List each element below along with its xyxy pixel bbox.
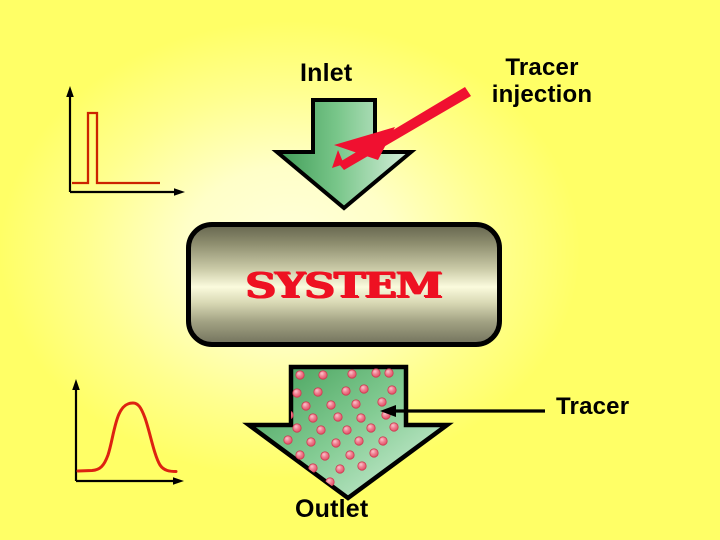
system-box: SYSTEM xyxy=(186,222,502,347)
outlet-chart-y-axis-arrowhead xyxy=(72,379,80,390)
slide-canvas: SYSTEM Inlet Outlet Tracer Tracer inject… xyxy=(0,0,720,540)
inlet-label: Inlet xyxy=(300,59,352,87)
inlet-pulse-curve xyxy=(72,113,160,183)
system-box-label: SYSTEM xyxy=(246,264,442,305)
inlet-chart-y-axis-arrowhead xyxy=(66,86,74,97)
outlet-flow-arrow xyxy=(249,367,447,498)
tracer-label: Tracer xyxy=(556,394,629,421)
outlet-response-curve xyxy=(78,403,176,472)
outlet-label: Outlet xyxy=(295,495,368,523)
outlet-response-chart xyxy=(72,379,184,485)
outlet-chart-x-axis-arrowhead xyxy=(173,477,184,485)
inlet-chart-x-axis-arrowhead xyxy=(174,188,185,196)
inlet-pulse-chart xyxy=(66,86,185,196)
inlet-flow-arrow xyxy=(277,100,411,208)
inlet-arrow-shape xyxy=(277,100,411,208)
tracer-injection-label: Tracer injection xyxy=(472,55,612,109)
